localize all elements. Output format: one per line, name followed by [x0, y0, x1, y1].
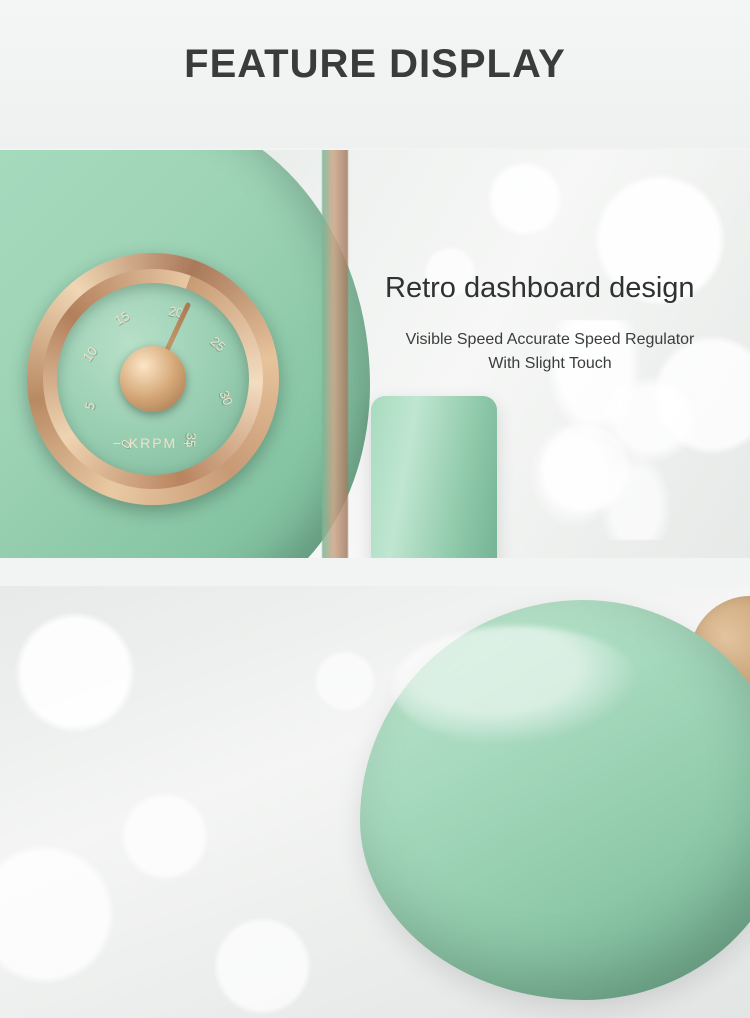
dial-tick-5: 5: [81, 400, 97, 411]
dial-unit-row: − KRPM +: [113, 435, 194, 451]
product-body-highlight: [392, 626, 642, 746]
dial-tick-25: 25: [208, 334, 229, 355]
blender-body-edge: [322, 150, 348, 558]
panel1-subtitle: Visible Speed Accurate Speed Regulator W…: [370, 328, 730, 376]
dial-tick-10: 10: [79, 344, 100, 365]
dial-tick-15: 15: [112, 308, 132, 328]
feature-panel-charging: Tindon ® Portable charging 3 hours of ch…: [0, 586, 750, 1018]
page-header: FEATURE DISPLAY: [0, 0, 750, 148]
dial-face: 0 5 10 15 20 25 30 35 − KRPM +: [57, 283, 249, 475]
panel1-subtitle-line1: Visible Speed Accurate Speed Regulator: [370, 328, 730, 352]
dial-minus-label: −: [113, 435, 123, 451]
speed-dial: 0 5 10 15 20 25 30 35 − KRPM +: [27, 253, 279, 505]
panel1-title: Retro dashboard design: [385, 272, 735, 305]
feature-panel-dashboard: 0 5 10 15 20 25 30 35 − KRPM + Retro das…: [0, 150, 750, 558]
mint-cup: [371, 396, 497, 558]
panel1-subtitle-line2: With Slight Touch: [370, 352, 730, 376]
dial-unit-label: KRPM: [129, 435, 177, 451]
dial-tick-30: 30: [216, 389, 235, 408]
dial-plus-label: +: [183, 435, 193, 451]
page-title: FEATURE DISPLAY: [0, 42, 750, 87]
product-feature-page: FEATURE DISPLAY 0 5 10 15 20 25 30 35: [0, 0, 750, 1018]
dial-knob[interactable]: [120, 346, 186, 412]
